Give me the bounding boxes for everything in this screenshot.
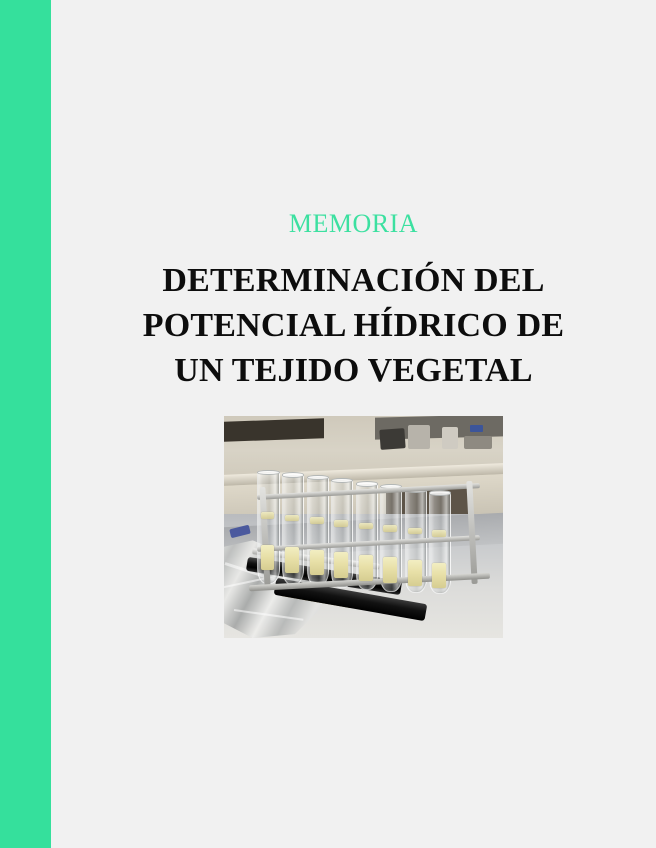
photo-test-tube-rack [257, 474, 480, 603]
document-cover-page: MEMORIA DETERMINACIÓN DEL POTENCIAL HÍDR… [0, 0, 656, 848]
photo-tube-rim-1 [257, 470, 279, 475]
photo-tissue-residue-7 [408, 528, 422, 534]
photo-tissue-sample-5 [359, 555, 373, 581]
cover-content-column: MEMORIA DETERMINACIÓN DEL POTENCIAL HÍDR… [51, 0, 656, 848]
photo-tissue-sample-1 [261, 545, 275, 571]
title-line-3: UN TEJIDO VEGETAL [51, 348, 656, 393]
photo-tissue-residue-4 [334, 520, 348, 526]
photo-tissue-sample-3 [310, 550, 324, 576]
photo-tissue-sample-2 [285, 547, 299, 573]
photo-foil-crease-3 [234, 609, 304, 621]
cover-photo [224, 416, 503, 638]
photo-tissue-residue-5 [359, 523, 373, 529]
photo-tissue-sample-6 [383, 557, 397, 583]
page-title: DETERMINACIÓN DEL POTENCIAL HÍDRICO DE U… [51, 258, 656, 393]
photo-rack-right-leg [467, 481, 478, 584]
photo-tube-rim-4 [331, 478, 353, 483]
cover-photo-illustration [224, 416, 503, 638]
photo-background-equipment-2 [408, 425, 430, 449]
photo-tissue-residue-3 [310, 517, 324, 523]
photo-tube-rim-8 [429, 490, 451, 495]
photo-tube-rim-5 [356, 481, 378, 486]
photo-tissue-sample-4 [334, 552, 348, 578]
document-kicker: MEMORIA [51, 208, 656, 240]
left-accent-bar [0, 0, 51, 848]
photo-tube-rim-2 [282, 472, 304, 477]
photo-tissue-sample-7 [408, 560, 422, 586]
photo-blue-cap-background [470, 425, 484, 432]
title-line-1: DETERMINACIÓN DEL [51, 258, 656, 303]
photo-background-equipment-4 [464, 436, 492, 449]
title-line-2: POTENCIAL HÍDRICO DE [51, 303, 656, 348]
photo-tissue-residue-1 [261, 512, 275, 518]
photo-background-equipment-3 [442, 427, 459, 449]
photo-dark-shelf-left [224, 419, 324, 442]
cover-blank-area [51, 650, 656, 848]
photo-background-equipment-1 [380, 428, 406, 450]
photo-tissue-residue-2 [285, 515, 299, 521]
photo-tissue-residue-8 [432, 530, 446, 536]
photo-tissue-sample-8 [432, 563, 446, 589]
photo-tissue-residue-6 [383, 525, 397, 531]
